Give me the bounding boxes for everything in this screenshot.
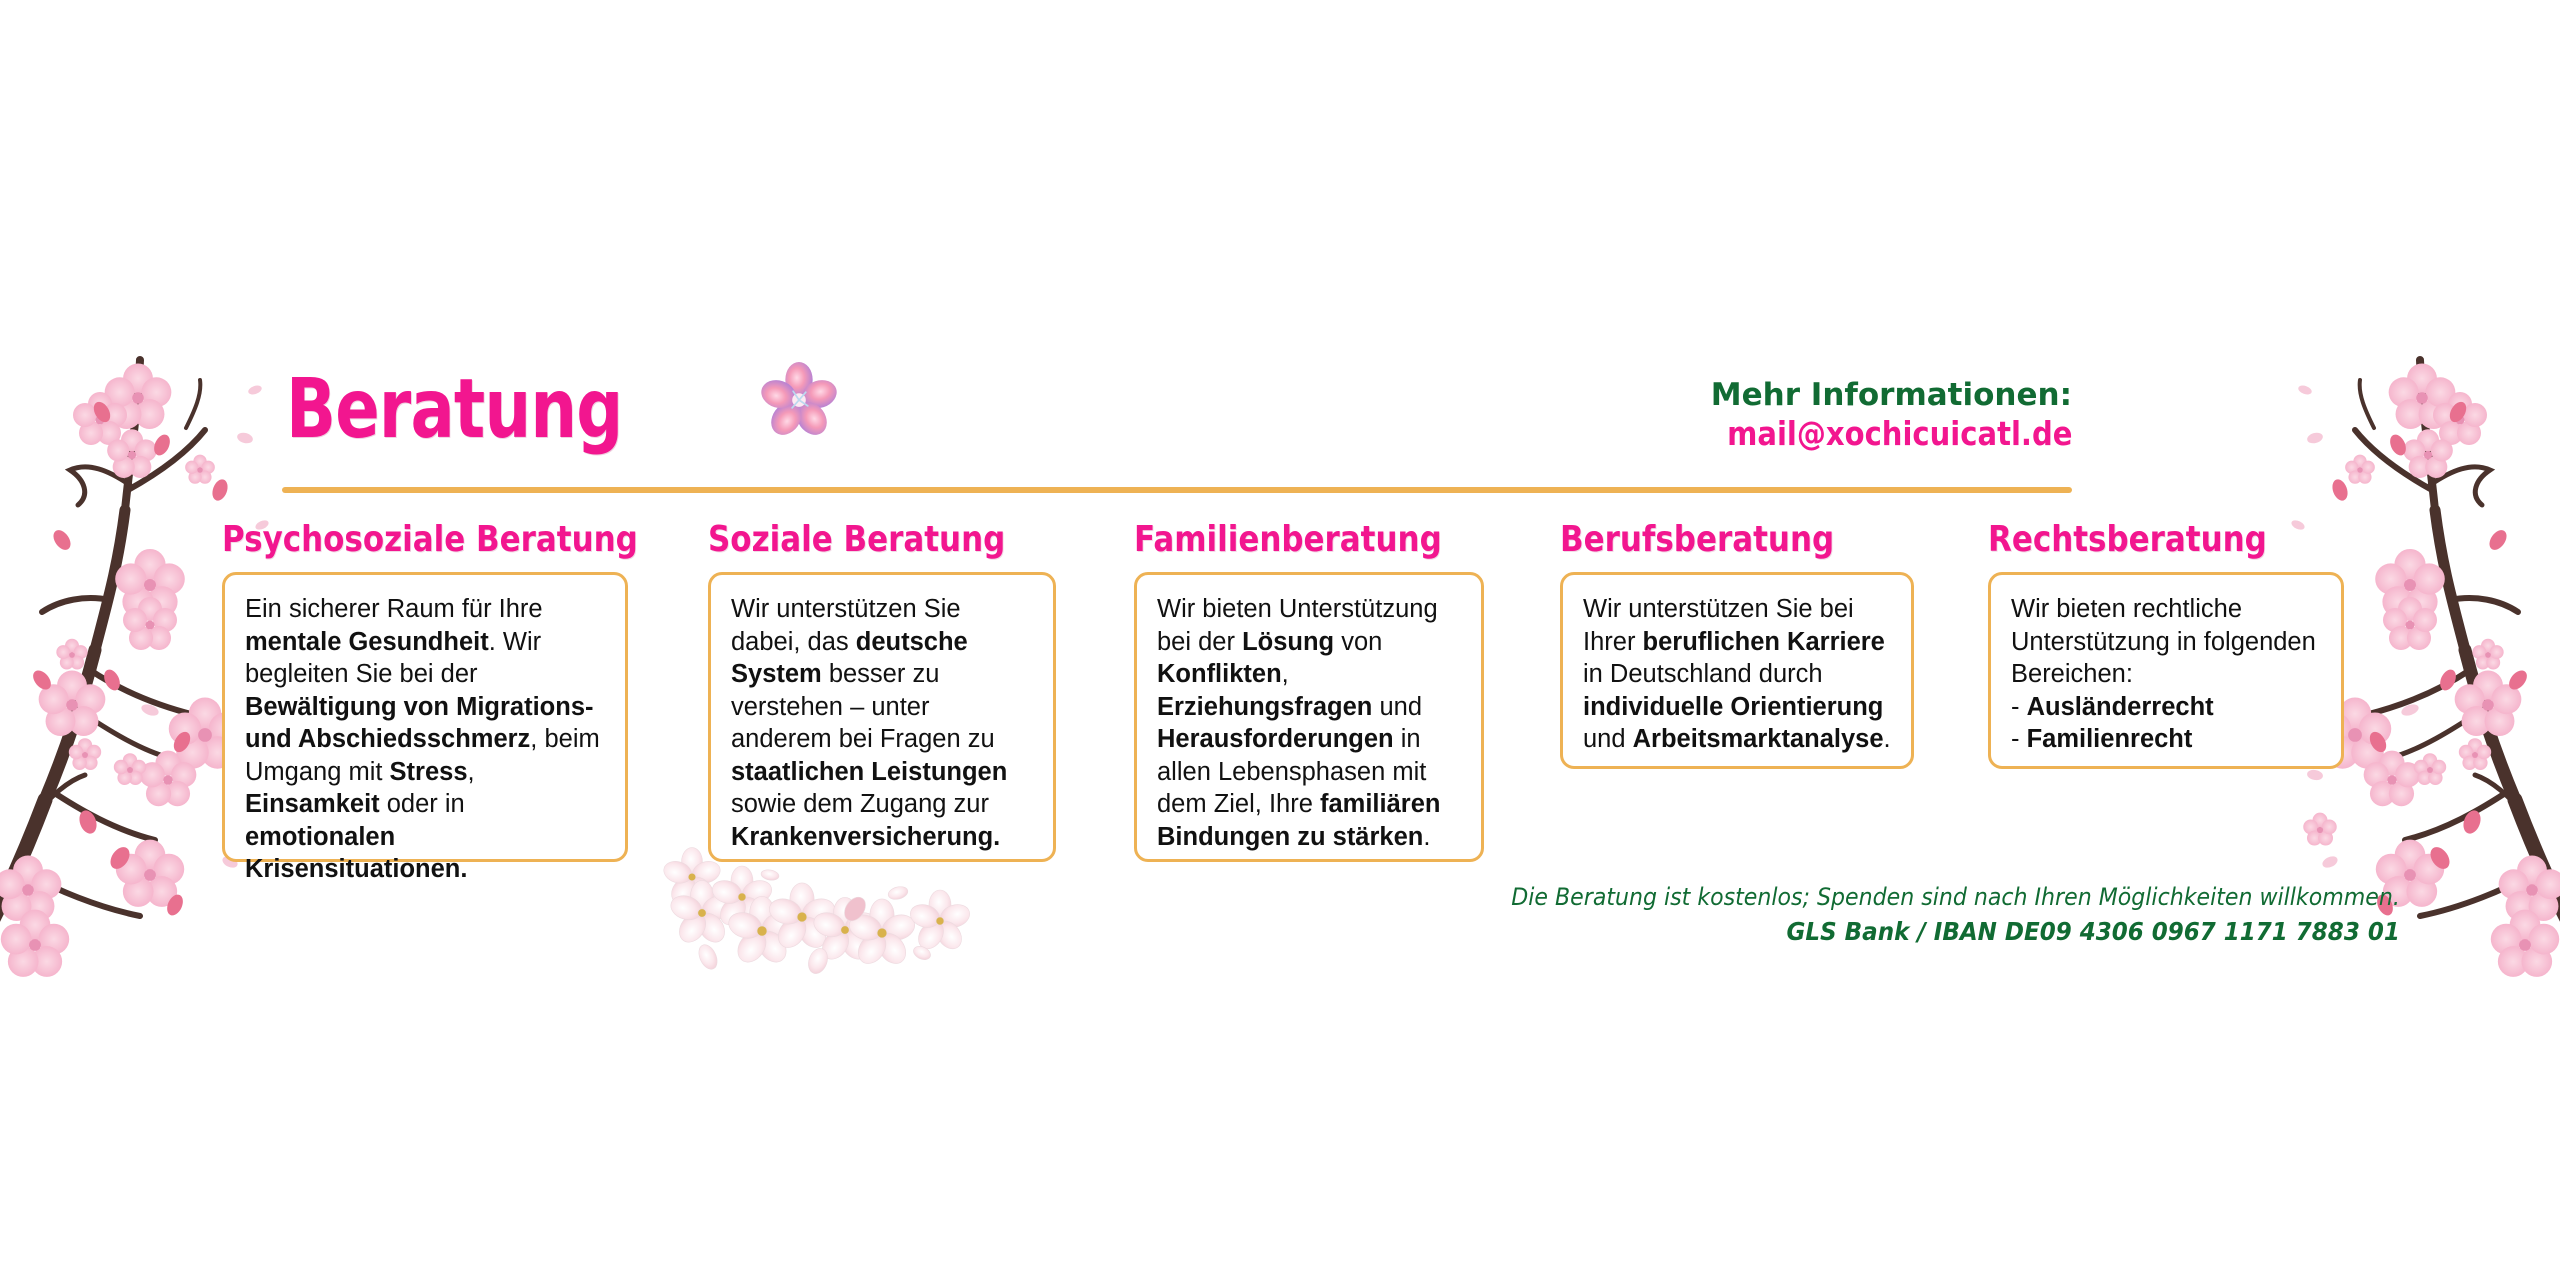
poster-canvas: Beratung Mehr Info bbox=[0, 0, 2560, 1280]
column-title: Psychosoziale Beratung bbox=[222, 518, 638, 562]
contact-email[interactable]: mail@xochicuicatl.de bbox=[1727, 414, 2072, 454]
card-body: Wir bieten rechtliche Unterstützung in f… bbox=[2011, 593, 2321, 756]
service-card: Wir unterstützen Sie dabei, das deutsche… bbox=[708, 572, 1056, 862]
column-title: Familienberatung bbox=[1134, 518, 1442, 562]
service-column-familienberatung: Familienberatung Wir bieten Unterstützun… bbox=[1134, 518, 1492, 862]
service-card: Ein sicherer Raum für Ihre mentale Gesun… bbox=[222, 572, 628, 862]
footer-bank-details: GLS Bank / IBAN DE09 4306 0967 1171 7883… bbox=[1511, 914, 2400, 950]
card-body: Wir unterstützen Sie bei Ihrer beruflich… bbox=[1583, 593, 1891, 756]
card-body: Ein sicherer Raum für Ihre mentale Gesun… bbox=[245, 593, 605, 886]
title-block: Beratung bbox=[286, 368, 707, 452]
card-body: Wir unterstützen Sie dabei, das deutsche… bbox=[731, 593, 1033, 853]
cherry-blossom-spray-icon bbox=[650, 845, 980, 995]
service-card: Wir bieten Unterstützung bei der Lösung … bbox=[1134, 572, 1484, 862]
footer-block: Die Beratung ist kostenlos; Spenden sind… bbox=[1434, 880, 2400, 950]
footer-donation-note: Die Beratung ist kostenlos; Spenden sind… bbox=[1511, 880, 2400, 914]
service-column-rechtsberatung: Rechtsberatung Wir bieten rechtliche Unt… bbox=[1988, 518, 2344, 769]
cherry-blossom-flower-icon bbox=[760, 362, 838, 440]
service-column-berufsberatung: Berufsberatung Wir unterstützen Sie bei … bbox=[1560, 518, 1914, 769]
card-body: Wir bieten Unterstützung bei der Lösung … bbox=[1157, 593, 1461, 853]
column-title: Soziale Beratung bbox=[708, 518, 1007, 562]
gold-divider bbox=[282, 487, 2072, 493]
page-title: Beratung bbox=[286, 368, 622, 452]
service-card: Wir unterstützen Sie bei Ihrer beruflich… bbox=[1560, 572, 1914, 769]
service-column-psychosoziale-beratung: Psychosoziale Beratung Ein sicherer Raum… bbox=[222, 518, 706, 862]
contact-label: Mehr Informationen: bbox=[1680, 376, 2072, 414]
service-card: Wir bieten rechtliche Unterstützung in f… bbox=[1988, 572, 2344, 769]
column-title: Berufsberatung bbox=[1560, 518, 1864, 562]
column-title: Rechtsberatung bbox=[1988, 518, 2294, 562]
contact-block: Mehr Informationen: mail@xochicuicatl.de bbox=[1680, 376, 2072, 454]
service-column-soziale-beratung: Soziale Beratung Wir unterstützen Sie da… bbox=[708, 518, 1056, 862]
